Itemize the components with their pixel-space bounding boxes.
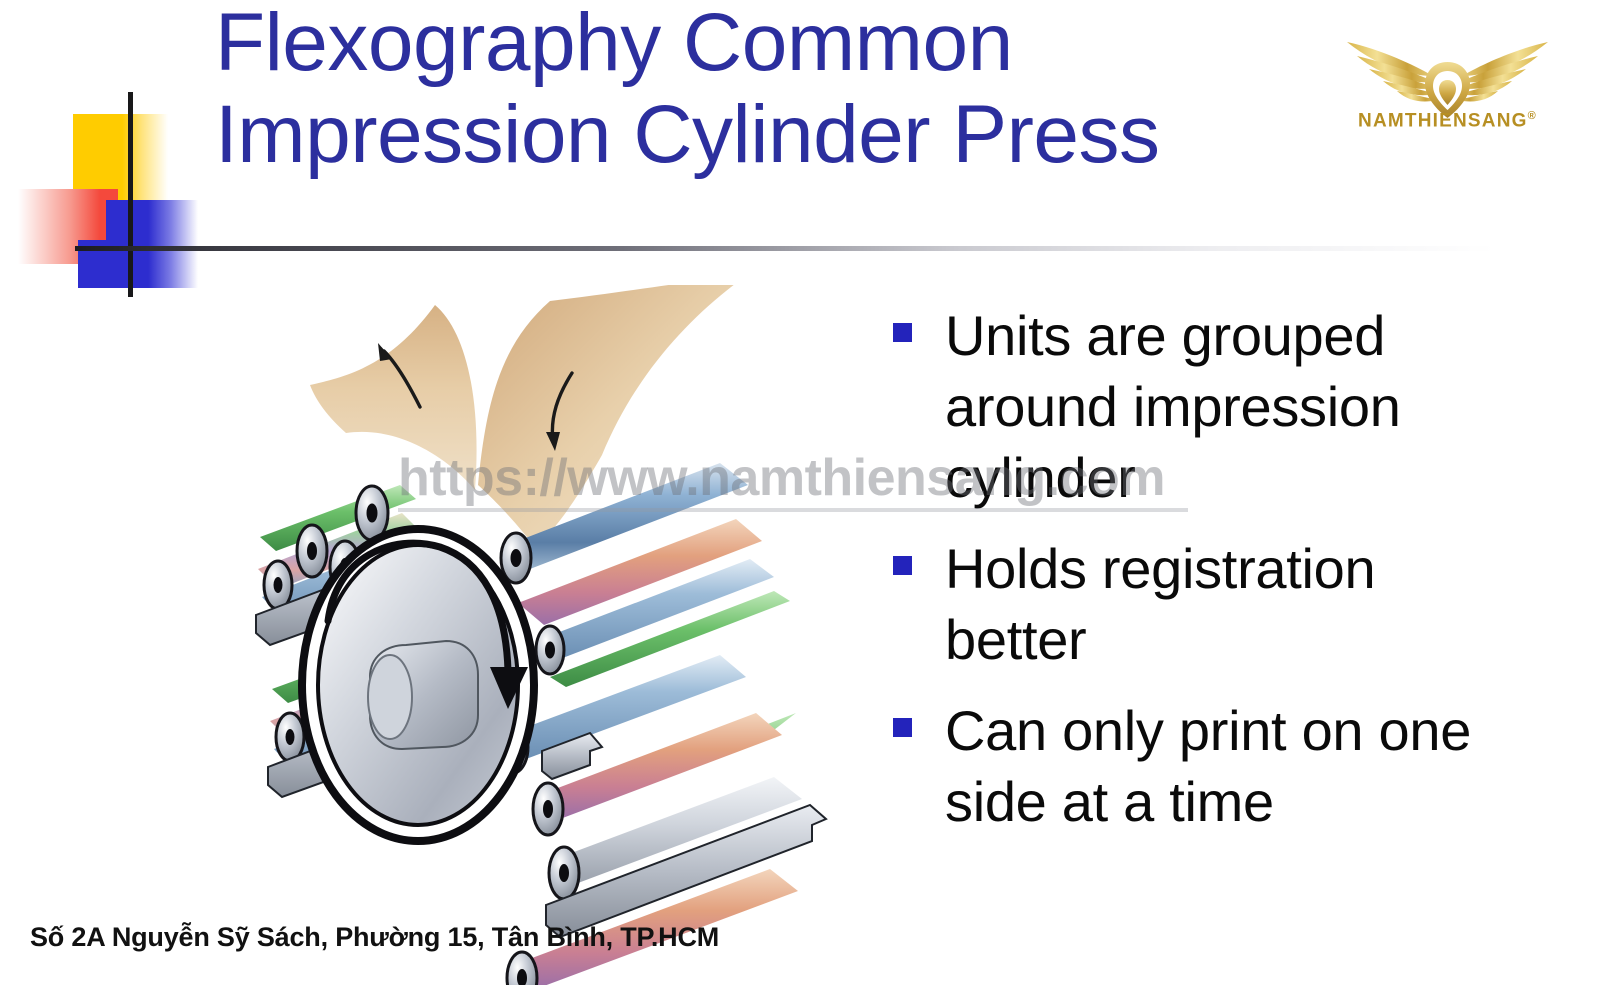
bullet-text: Can only print on one side at a time — [945, 695, 1493, 837]
logo-wordmark: NAMTHIENSANG® — [1305, 110, 1590, 132]
bullet-text: Holds registration better — [945, 533, 1493, 675]
slide-canvas: Flexography Common Impression Cylinder P… — [0, 0, 1600, 1000]
registration-crosshair-vertical — [128, 92, 133, 297]
bullet-square-icon — [893, 556, 912, 575]
bullet-list: Units are grouped around impression cyli… — [893, 300, 1493, 857]
namthiensang-logo: NAMTHIENSANG® — [1305, 18, 1590, 138]
title-line-1: Flexography Common — [215, 4, 1335, 82]
wings-icon — [1305, 18, 1590, 123]
list-item: Holds registration better — [893, 533, 1493, 675]
press-diagram-svg — [250, 285, 830, 985]
bullet-square-icon — [893, 323, 912, 342]
logo-wordmark-text: NAMTHIENSANG — [1358, 110, 1528, 131]
registration-mark-graphic — [18, 92, 238, 302]
title-divider-rule — [75, 246, 1495, 251]
page-title: Flexography Common Impression Cylinder P… — [215, 4, 1335, 174]
title-line-2: Impression Cylinder Press — [215, 96, 1335, 174]
list-item: Units are grouped around impression cyli… — [893, 300, 1493, 513]
bullet-text: Units are grouped around impression cyli… — [945, 300, 1493, 513]
bullet-square-icon — [893, 718, 912, 737]
list-item: Can only print on one side at a time — [893, 695, 1493, 837]
site-watermark-underline — [398, 508, 1188, 512]
registration-square-blue — [106, 200, 198, 288]
flexo-common-impression-cylinder-diagram — [250, 285, 830, 985]
footer-address: Số 2A Nguyễn Sỹ Sách, Phường 15, Tân Bìn… — [30, 922, 719, 953]
registered-trademark-icon: ® — [1528, 110, 1537, 122]
